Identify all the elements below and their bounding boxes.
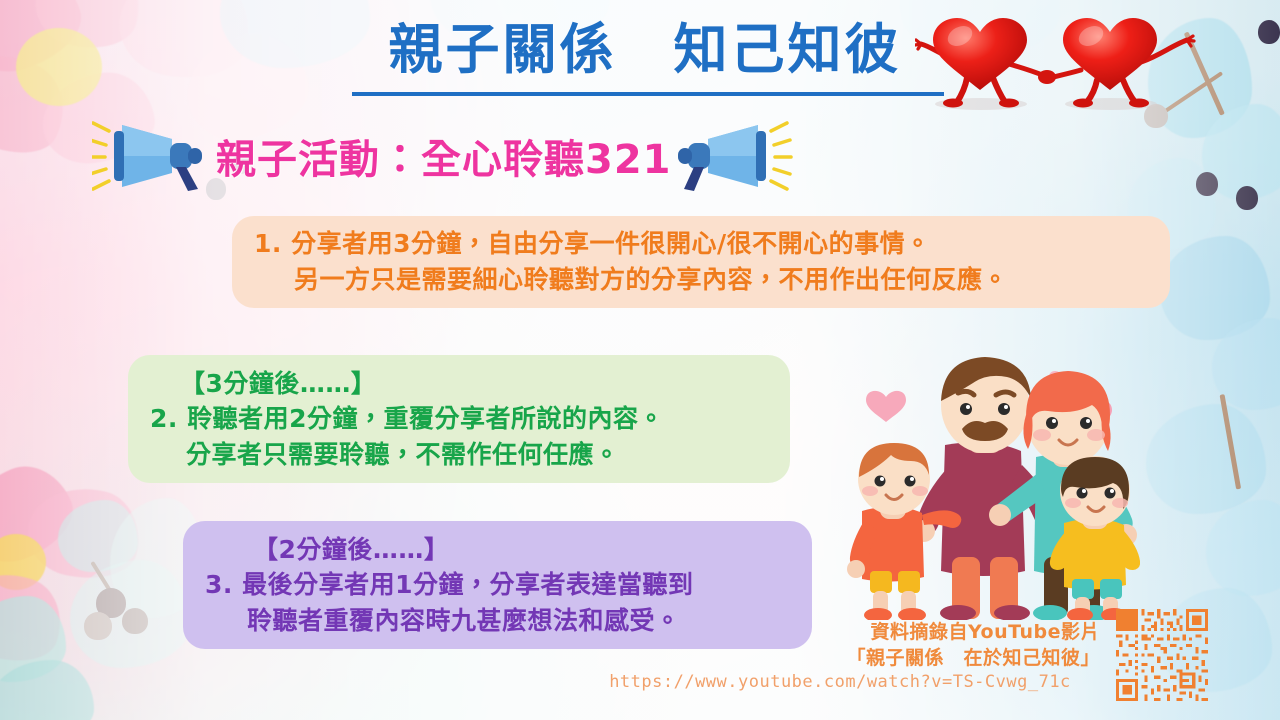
credit-url[interactable]: https://www.youtube.com/watch?v=TS-Cvwg_… <box>560 672 1120 692</box>
berry <box>122 608 148 634</box>
berry <box>84 612 112 640</box>
step-1-line-1: 1. 分享者用3分鐘，自由分享一件很開心/很不開心的事情。 <box>254 226 1156 262</box>
step-2-box: 【3分鐘後……】 2. 聆聽者用2分鐘，重覆分享者所說的內容。 分享者只需要聆聽… <box>128 355 790 483</box>
credit-line-2: 「親子關係 在於知己知彼」 <box>600 646 1100 672</box>
leaf-shape <box>1206 500 1280 596</box>
berry <box>1236 186 1258 210</box>
berry <box>1258 20 1280 44</box>
family-illustration <box>840 345 1140 620</box>
page-title: 親子關係 知己知彼 <box>340 22 950 79</box>
leaf-shape <box>0 660 94 720</box>
credit-block: 資料摘錄自YouTube影片 「親子關係 在於知己知彼」 <box>600 620 1100 671</box>
step-3-header: 【2分鐘後……】 <box>205 532 796 568</box>
megaphone-left-icon <box>92 121 210 191</box>
step-1-box: 1. 分享者用3分鐘，自由分享一件很開心/很不開心的事情。 另一方只是需要細心聆… <box>232 216 1170 308</box>
step-1-line-2: 另一方只是需要細心聆聽對方的分享內容，不用作出任何反應。 <box>254 262 1156 298</box>
step-2-line-1: 2. 聆聽者用2分鐘，重覆分享者所說的內容。 <box>150 401 774 437</box>
credit-line-1: 資料摘錄自YouTube影片 <box>600 620 1100 646</box>
subtitle-row: 親子活動：全心聆聽321 <box>92 118 872 194</box>
slide-canvas: 親子關係 知己知彼 <box>0 0 1280 720</box>
megaphone-right-icon <box>678 121 796 191</box>
flower-center <box>16 28 102 106</box>
qr-code-icon[interactable] <box>1116 609 1208 701</box>
step-2-line-2: 分享者只需要聆聽，不需作任何任應。 <box>150 437 774 473</box>
title-underline <box>352 92 944 96</box>
step-3-line-1: 3. 最後分享者用1分鐘，分享者表達當聽到 <box>205 567 796 603</box>
step-2-header: 【3分鐘後……】 <box>150 366 774 402</box>
subtitle-text: 親子活動：全心聆聽321 <box>216 127 672 185</box>
heart-couple-icon <box>915 12 1205 112</box>
leaf-shape <box>1146 404 1266 514</box>
berry <box>1196 172 1218 196</box>
